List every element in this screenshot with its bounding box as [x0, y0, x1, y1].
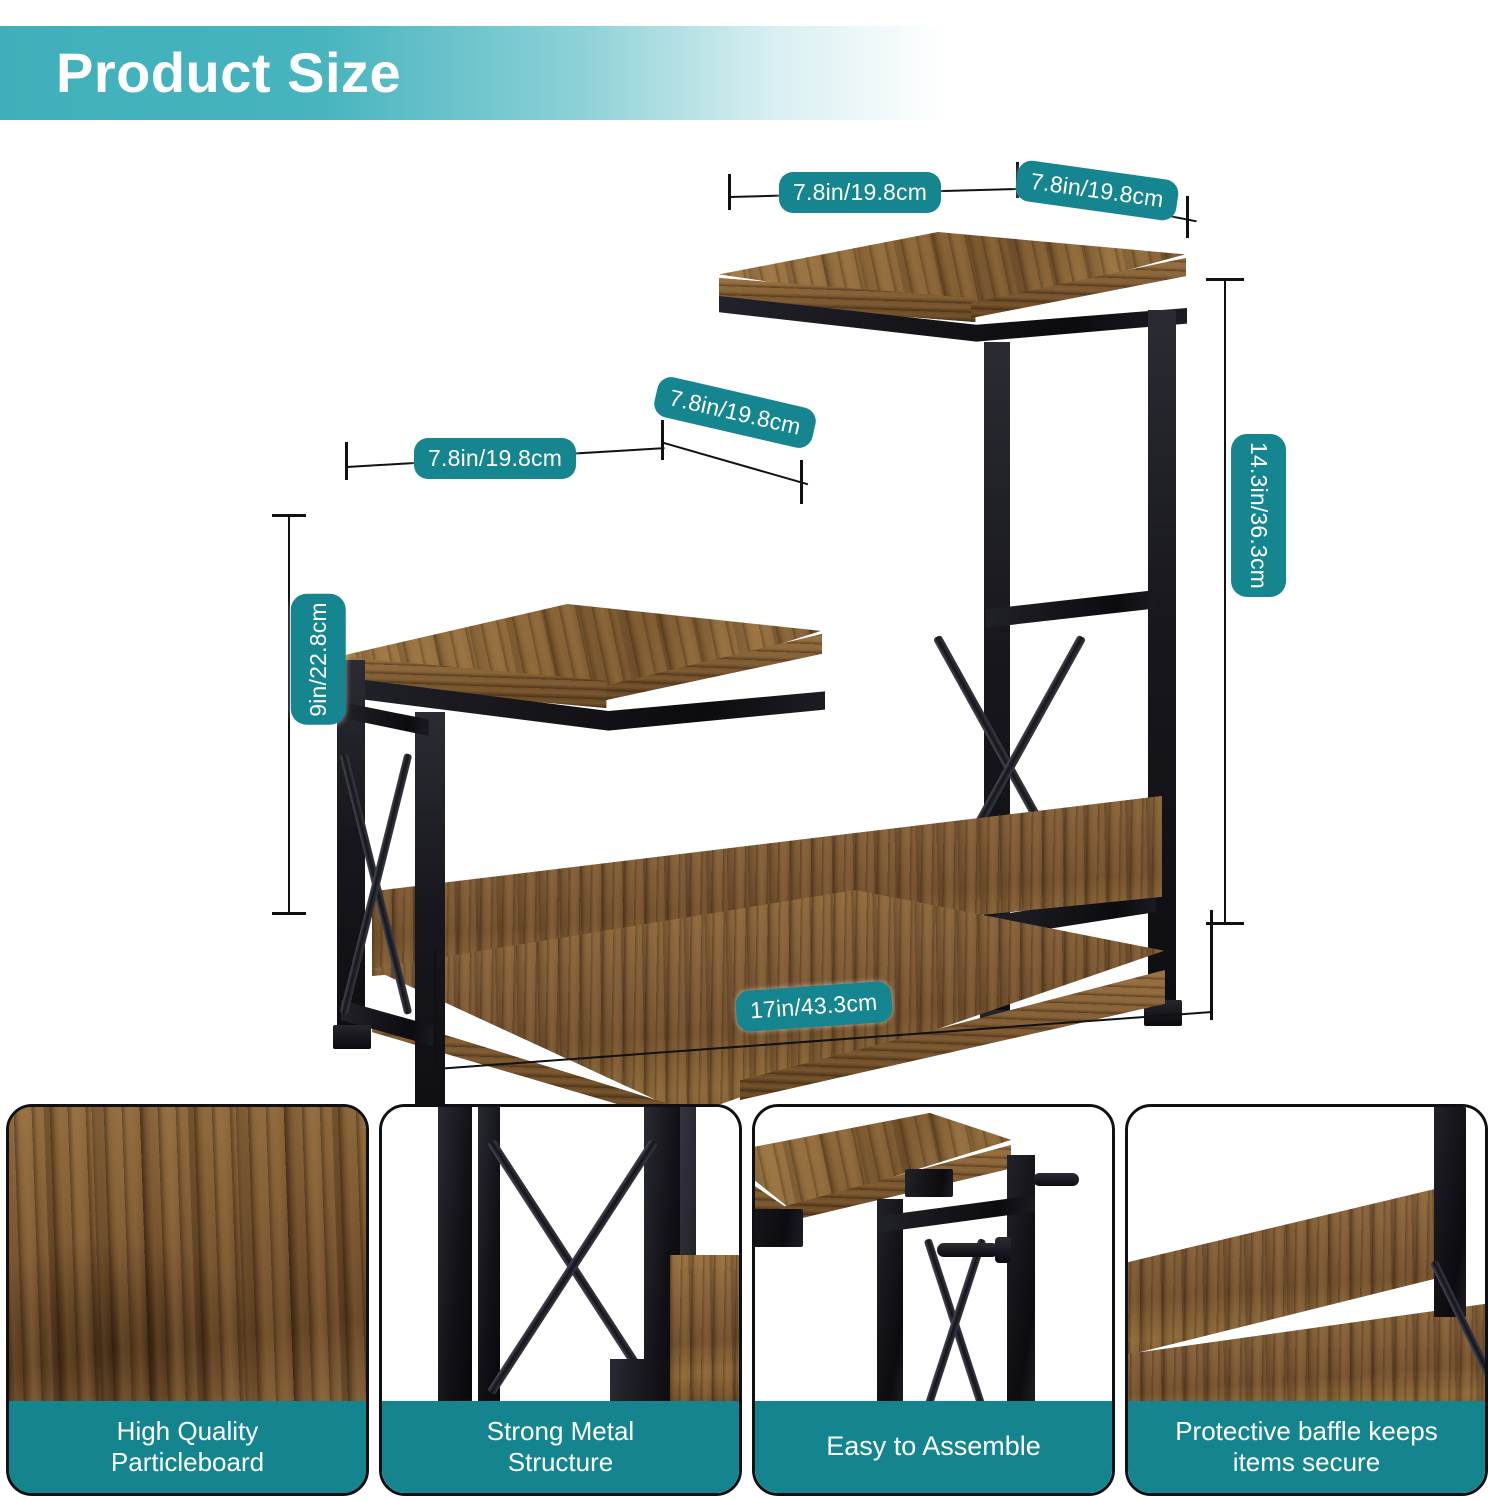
- dim-tick-total-width-left: [434, 950, 437, 1068]
- feature-caption-line-2: items secure: [1233, 1447, 1380, 1477]
- feature-card-metal-structure: Strong Metal Structure: [379, 1104, 742, 1496]
- feature-caption-protective-baffle: Protective baffle keeps items secure: [1128, 1401, 1485, 1493]
- dim-tick-lower-height-bottom: [272, 912, 306, 915]
- feature-card-protective-baffle: Protective baffle keeps items secure: [1125, 1104, 1488, 1496]
- assembly-bolt: [937, 1243, 999, 1257]
- feature-caption-line-1: High Quality: [117, 1416, 259, 1446]
- dim-tick-lower-depth-right: [800, 460, 803, 504]
- feature-caption-line-2: Structure: [508, 1447, 614, 1477]
- dim-line-lower-height: [288, 514, 290, 914]
- product-dimension-diagram: 7.8in/19.8cm 7.8in/19.8cm 7.8in/19.8cm 7…: [0, 120, 1494, 1095]
- dim-tick-upper-width-left: [728, 174, 731, 210]
- feature-caption-particleboard: High Quality Particleboard: [9, 1401, 366, 1493]
- metal-post-left: [438, 1104, 472, 1433]
- header-banner: Product Size: [0, 26, 945, 120]
- feature-card-easy-assemble: Easy to Assemble: [752, 1104, 1115, 1496]
- dim-tick-upper-depth-right: [1186, 196, 1189, 238]
- dim-badge-lower-height: 9in/22.8cm: [291, 594, 346, 725]
- assembly-bolt-head: [995, 1237, 1011, 1263]
- feature-caption-metal-structure: Strong Metal Structure: [382, 1401, 739, 1493]
- feature-caption-line-1: Protective baffle keeps: [1175, 1416, 1438, 1446]
- feature-caption-easy-assemble: Easy to Assemble: [755, 1401, 1112, 1493]
- page-title: Product Size: [56, 45, 401, 101]
- dim-badge-upper-width: 7.8in/19.8cm: [779, 172, 941, 213]
- assembly-bolt-secondary: [1033, 1173, 1079, 1186]
- feature-caption-line-1: Strong Metal: [487, 1416, 634, 1446]
- left-front-leg: [415, 712, 445, 1142]
- tabletop-bracket-right: [905, 1169, 953, 1197]
- dim-badge-lower-depth: 7.8in/19.8cm: [651, 374, 818, 450]
- feature-highlight-row: High Quality Particleboard Strong Metal …: [0, 1104, 1494, 1500]
- tabletop-bracket-left: [752, 1209, 803, 1247]
- baffle-frame-post: [1434, 1104, 1466, 1317]
- feature-caption-line-2: Particleboard: [111, 1447, 264, 1477]
- wood-block-right: [670, 1255, 740, 1403]
- dim-line-lower-depth: [663, 442, 808, 485]
- dim-line-total-height: [1224, 278, 1226, 924]
- dim-badge-lower-width: 7.8in/19.8cm: [414, 438, 576, 479]
- dim-tick-total-width-right: [1210, 910, 1213, 1020]
- dim-tick-lower-width-right: [661, 420, 664, 460]
- left-rear-foot-cap: [333, 1025, 371, 1049]
- dim-badge-total-height: 14.3in/36.3cm: [1231, 434, 1286, 597]
- frame-post-right: [1007, 1155, 1035, 1403]
- dim-tick-lower-width-left: [345, 442, 348, 480]
- feature-card-particleboard: High Quality Particleboard: [6, 1104, 369, 1496]
- right-upper-rail: [986, 590, 1156, 636]
- dim-badge-upper-depth: 7.8in/19.8cm: [1014, 159, 1180, 222]
